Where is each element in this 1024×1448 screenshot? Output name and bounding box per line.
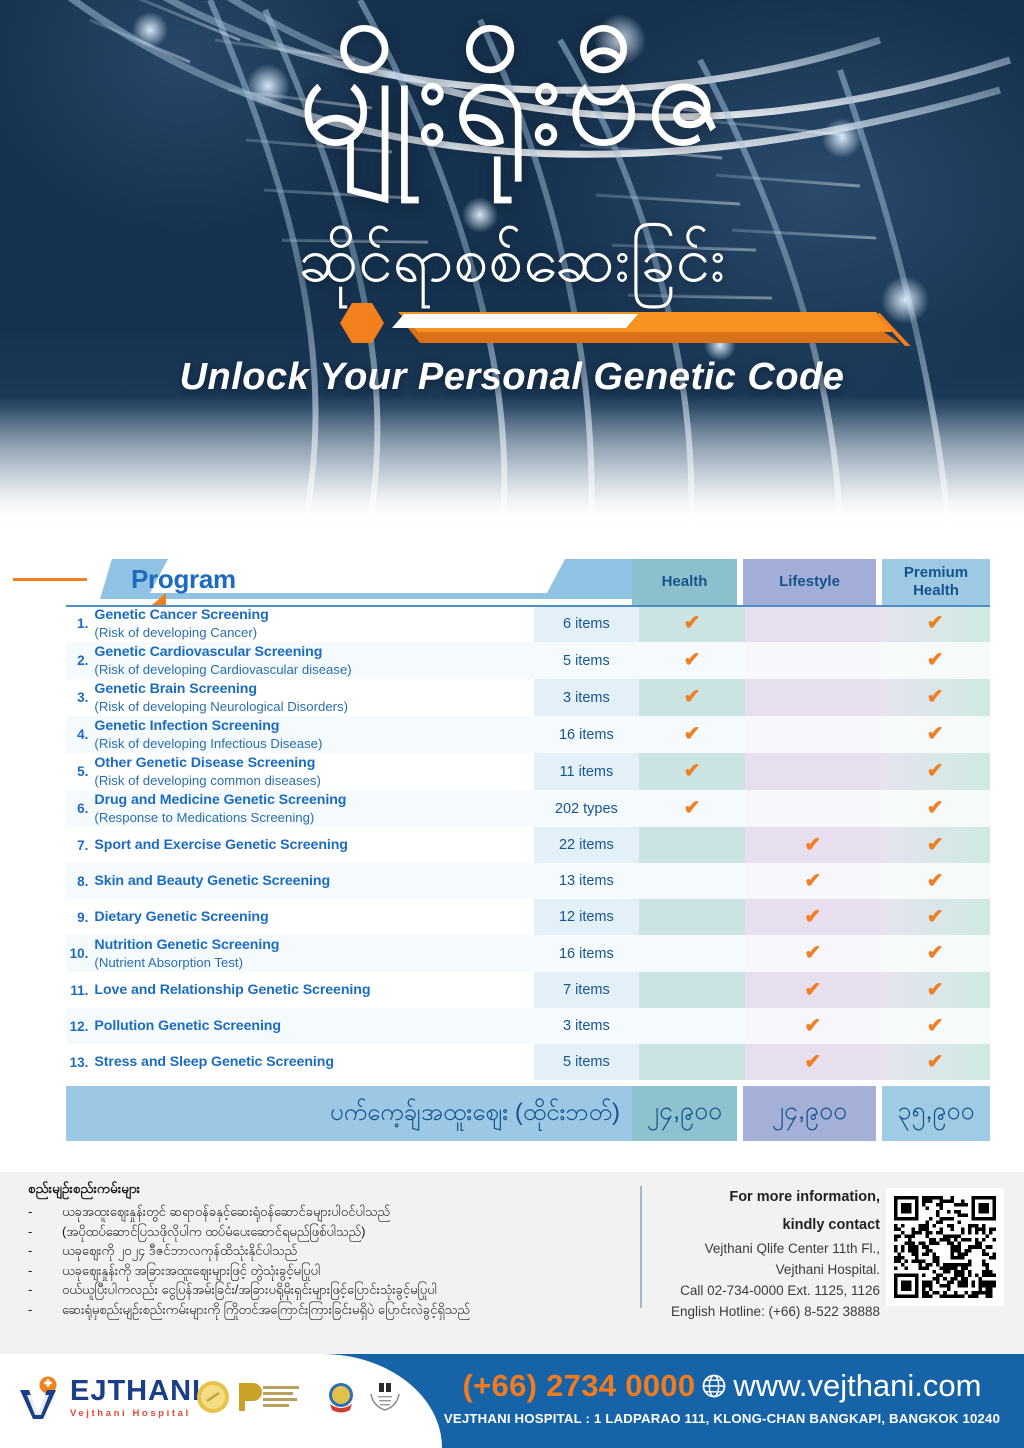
table-row: 8.Skin and Beauty Genetic Screening13 it… xyxy=(66,863,990,899)
cell-premium-health: ✔ xyxy=(880,1008,990,1044)
orange-hexagon-icon xyxy=(340,303,384,343)
row-program-name: Skin and Beauty Genetic Screening xyxy=(94,863,534,899)
terms-list-item: -ယခုအထူးဈေးနှုန်းတွင် ဆရာဝန်ခနှင့်ဆေးရုံ… xyxy=(28,1202,628,1222)
row-program-name: Nutrition Genetic Screening(Nutrient Abs… xyxy=(94,935,534,972)
header-orange-rule xyxy=(13,578,87,581)
check-icon: ✔ xyxy=(684,797,701,819)
table-row: 2.Genetic Cardiovascular Screening(Risk … xyxy=(66,642,990,679)
table-row: 4.Genetic Infection Screening(Risk of de… xyxy=(66,716,990,753)
cell-premium-health: ✔ xyxy=(880,899,990,935)
hospital-accreditation-icon xyxy=(324,1380,358,1414)
program-title: Stress and Sleep Genetic Screening xyxy=(94,1053,534,1071)
cell-lifestyle: ✔ xyxy=(745,899,880,935)
program-subtitle: (Response to Medications Screening) xyxy=(94,809,534,826)
cell-lifestyle xyxy=(745,642,880,679)
vejthani-wordmark: EJTHANI xyxy=(70,1377,201,1406)
column-header-lifestyle[interactable]: Lifestyle xyxy=(743,559,876,605)
page-subtitle-burmese: ဆိုင်ရာစစ်ဆေးခြင်း xyxy=(0,222,1024,300)
terms-and-conditions: စည်းမျဉ်းစည်းကမ်းများ -ယခုအထူးဈေးနှုန်းတ… xyxy=(28,1180,628,1319)
qr-code[interactable] xyxy=(886,1188,1004,1306)
row-number: 1. xyxy=(66,605,94,642)
cell-premium-health: ✔ xyxy=(880,1044,990,1080)
check-icon: ✔ xyxy=(804,906,821,928)
cell-lifestyle xyxy=(745,753,880,790)
cell-health xyxy=(639,1044,746,1080)
footer-address: VEJTHANI HOSPITAL : 1 LADPARAO 111, KLON… xyxy=(432,1411,1012,1426)
hero-banner: မျိုးရိုးဗီဇ ဆိုင်ရာစစ်ဆေးခြင်း Unlock Y… xyxy=(0,0,1024,545)
global-health-award-icon xyxy=(365,1380,405,1414)
check-icon: ✔ xyxy=(927,1015,944,1037)
price-row: ပက်ကေ့ခ်ျအထူးဈေး (ထိုင်းဘတ်) ၂၄,၉၀၀ ၂၄,၉… xyxy=(0,1086,1024,1141)
header-bottom-rule xyxy=(66,605,990,607)
cell-premium-health: ✔ xyxy=(880,790,990,827)
program-title: Genetic Cardiovascular Screening xyxy=(94,643,534,661)
cell-lifestyle: ✔ xyxy=(745,1008,880,1044)
terms-list-item: -ဝယ်ယူပြီးပါကလည်း ငွေပြန်အမ်းခြင်း/အခြား… xyxy=(28,1280,628,1300)
row-program-name: Other Genetic Disease Screening(Risk of … xyxy=(94,753,534,790)
row-number: 11. xyxy=(66,972,94,1008)
check-icon: ✔ xyxy=(927,723,944,745)
row-number: 3. xyxy=(66,679,94,716)
orange-diagonal-line xyxy=(878,314,1012,346)
cell-health xyxy=(639,863,746,899)
program-table-header: Program Health Lifestyle Premium Health xyxy=(0,553,1024,605)
cell-premium-health: ✔ xyxy=(880,605,990,642)
row-program-name: Dietary Genetic Screening xyxy=(94,899,534,935)
vertical-divider xyxy=(640,1186,642,1308)
cell-health xyxy=(639,899,746,935)
program-subtitle: (Nutrient Absorption Test) xyxy=(94,954,534,971)
cell-health: ✔ xyxy=(639,642,746,679)
cell-lifestyle xyxy=(745,605,880,642)
cell-lifestyle: ✔ xyxy=(745,863,880,899)
row-program-name: Pollution Genetic Screening xyxy=(94,1008,534,1044)
program-subtitle: (Risk of developing Neurological Disorde… xyxy=(94,698,534,715)
column-header-health[interactable]: Health xyxy=(632,559,737,605)
cell-health xyxy=(639,827,746,863)
terms-list-text: ဝယ်ယူပြီးပါကလည်း ငွေပြန်အမ်းခြင်း/အခြားပ… xyxy=(62,1280,437,1300)
list-bullet: - xyxy=(28,1241,56,1261)
check-icon: ✔ xyxy=(684,649,701,671)
qr-code-image xyxy=(894,1196,996,1298)
cell-lifestyle: ✔ xyxy=(745,827,880,863)
cell-health: ✔ xyxy=(639,790,746,827)
check-icon: ✔ xyxy=(927,870,944,892)
row-item-count: 16 items xyxy=(534,716,639,753)
check-icon: ✔ xyxy=(684,760,701,782)
cell-premium-health: ✔ xyxy=(880,642,990,679)
check-icon: ✔ xyxy=(927,1051,944,1073)
row-number: 8. xyxy=(66,863,94,899)
price-health: ၂၄,၉၀၀ xyxy=(632,1086,737,1141)
column-header-premium-line2: Health xyxy=(904,582,968,600)
row-number: 4. xyxy=(66,716,94,753)
table-row: 5.Other Genetic Disease Screening(Risk o… xyxy=(66,753,990,790)
row-program-name: Genetic Cancer Screening(Risk of develop… xyxy=(94,605,534,642)
check-icon: ✔ xyxy=(684,686,701,708)
row-program-name: Stress and Sleep Genetic Screening xyxy=(94,1044,534,1080)
terms-list-item: -ယခုဈေးနှုန်းကို အခြားအထူးဈေးများဖြင့် တ… xyxy=(28,1261,628,1281)
row-item-count: 13 items xyxy=(534,863,639,899)
row-item-count: 16 items xyxy=(534,935,639,972)
cell-lifestyle: ✔ xyxy=(745,972,880,1008)
terms-list-item: -ဆေးရုံမှစည်းမျဉ်းစည်းကမ်းများကို ကြိုတင… xyxy=(28,1300,628,1320)
contact-hotline: English Hotline: (+66) 8-522 38888 xyxy=(648,1302,880,1323)
check-icon: ✔ xyxy=(804,942,821,964)
contact-line-1: For more information, xyxy=(648,1184,880,1212)
row-program-name: Drug and Medicine Genetic Screening(Resp… xyxy=(94,790,534,827)
row-item-count: 12 items xyxy=(534,899,639,935)
row-program-name: Genetic Cardiovascular Screening(Risk of… xyxy=(94,642,534,679)
program-title: Love and Relationship Genetic Screening xyxy=(94,981,534,999)
row-item-count: 6 items xyxy=(534,605,639,642)
cell-health xyxy=(639,935,746,972)
footer-website[interactable]: www.vejthani.com xyxy=(733,1368,981,1404)
column-header-premium-health[interactable]: Premium Health xyxy=(882,559,990,605)
footer-phone-number[interactable]: (+66) 2734 0000 xyxy=(463,1368,696,1404)
table-row: 7.Sport and Exercise Genetic Screening22… xyxy=(66,827,990,863)
row-number: 13. xyxy=(66,1044,94,1080)
white-bar-segment xyxy=(392,314,638,328)
table-row: 3.Genetic Brain Screening(Risk of develo… xyxy=(66,679,990,716)
check-icon: ✔ xyxy=(804,979,821,1001)
terms-list-text: ယခုဈေးနှုန်းကို အခြားအထူးဈေးများဖြင့် တွ… xyxy=(62,1261,320,1281)
cell-premium-health: ✔ xyxy=(880,827,990,863)
list-bullet: - xyxy=(28,1261,56,1281)
row-number: 9. xyxy=(66,899,94,935)
program-title: Genetic Brain Screening xyxy=(94,680,534,698)
orange-divider-bar xyxy=(0,300,1024,346)
row-number: 5. xyxy=(66,753,94,790)
check-icon: ✔ xyxy=(804,870,821,892)
program-subtitle: (Risk of developing Cancer) xyxy=(94,624,534,641)
terms-list-text: ဆေးရုံမှစည်းမျဉ်းစည်းကမ်းများကို ကြိုတင်… xyxy=(62,1300,470,1320)
cell-lifestyle xyxy=(745,716,880,753)
row-item-count: 5 items xyxy=(534,642,639,679)
check-icon: ✔ xyxy=(684,612,701,634)
price-row-label: ပက်ကေ့ခ်ျအထူးဈေး (ထိုင်းဘတ်) xyxy=(330,1096,632,1132)
check-icon: ✔ xyxy=(804,834,821,856)
row-item-count: 3 items xyxy=(534,679,639,716)
column-header-premium-line1: Premium xyxy=(904,564,968,582)
cell-lifestyle xyxy=(745,679,880,716)
row-item-count: 7 items xyxy=(534,972,639,1008)
list-bullet: - xyxy=(28,1300,56,1320)
notes-and-contact-section: စည်းမျဉ်းစည်းကမ်းများ -ယခုအထူးဈေးနှုန်းတ… xyxy=(0,1172,1024,1354)
check-icon: ✔ xyxy=(927,686,944,708)
cell-lifestyle: ✔ xyxy=(745,935,880,972)
program-title: Genetic Infection Screening xyxy=(94,717,534,735)
row-item-count: 11 items xyxy=(534,753,639,790)
row-program-name: Genetic Brain Screening(Risk of developi… xyxy=(94,679,534,716)
check-icon: ✔ xyxy=(804,1051,821,1073)
list-bullet: - xyxy=(28,1222,56,1242)
row-item-count: 202 types xyxy=(534,790,639,827)
row-number: 12. xyxy=(66,1008,94,1044)
cell-health: ✔ xyxy=(639,679,746,716)
check-icon: ✔ xyxy=(927,797,944,819)
list-bullet: - xyxy=(28,1202,56,1222)
cell-health: ✔ xyxy=(639,716,746,753)
cell-health xyxy=(639,972,746,1008)
table-row: 11.Love and Relationship Genetic Screeni… xyxy=(66,972,990,1008)
row-item-count: 22 items xyxy=(534,827,639,863)
cell-lifestyle: ✔ xyxy=(745,1044,880,1080)
gold-coin-award-icon xyxy=(196,1380,230,1414)
vejthani-tagline: Vejthani Hospital xyxy=(70,1408,201,1419)
program-subtitle: (Risk of developing Cardiovascular disea… xyxy=(94,661,534,678)
row-number: 10. xyxy=(66,935,94,972)
footer-bar: EJTHANI Vejthani Hospital (+6 xyxy=(0,1354,1024,1448)
check-icon: ✔ xyxy=(927,942,944,964)
terms-list-item: -ယခုဈေးကို ၂၀၂၄ ဒီဇင်ဘာလကုန်ထိသုံးနိုင်ပ… xyxy=(28,1241,628,1261)
vejthani-logo: EJTHANI Vejthani Hospital xyxy=(18,1376,201,1420)
cell-premium-health: ✔ xyxy=(880,972,990,1008)
program-table-section: Program Health Lifestyle Premium Health … xyxy=(0,553,1024,1141)
check-icon: ✔ xyxy=(684,723,701,745)
program-title: Skin and Beauty Genetic Screening xyxy=(94,872,534,890)
terms-list-text: ယခုဈေးကို ၂၀၂၄ ဒီဇင်ဘာလကုန်ထိသုံးနိုင်ပါ… xyxy=(62,1241,297,1261)
check-icon: ✔ xyxy=(927,979,944,1001)
terms-heading: စည်းမျဉ်းစည်းကမ်းများ xyxy=(28,1180,628,1200)
globe-icon xyxy=(701,1373,727,1399)
cell-health: ✔ xyxy=(639,753,746,790)
check-icon: ✔ xyxy=(927,906,944,928)
cell-premium-health: ✔ xyxy=(880,935,990,972)
program-title: Other Genetic Disease Screening xyxy=(94,754,534,772)
check-icon: ✔ xyxy=(804,1015,821,1037)
footer-contact: (+66) 2734 0000 www.vejthani.com VEJTHAN… xyxy=(432,1368,1012,1426)
prime-minister-award-icon xyxy=(237,1381,317,1413)
list-bullet: - xyxy=(28,1280,56,1300)
program-title: Dietary Genetic Screening xyxy=(94,908,534,926)
check-icon: ✔ xyxy=(927,760,944,782)
table-row: 12.Pollution Genetic Screening3 items✔✔ xyxy=(66,1008,990,1044)
cell-premium-health: ✔ xyxy=(880,679,990,716)
terms-list-text: (အပိုထပ်ဆောင်ပြသဖိုလိုပါက ထပ်မံပေးဆောင်ရ… xyxy=(62,1222,365,1242)
hero-tagline: Unlock Your Personal Genetic Code xyxy=(0,356,1024,399)
contact-line-2: kindly contact xyxy=(648,1212,880,1240)
award-badges xyxy=(196,1380,405,1414)
cell-health xyxy=(639,1008,746,1044)
row-number: 2. xyxy=(66,642,94,679)
cell-premium-health: ✔ xyxy=(880,716,990,753)
program-column-header: Program xyxy=(131,564,431,595)
check-icon: ✔ xyxy=(927,649,944,671)
price-premium-health: ၃၅,၉၀၀ xyxy=(882,1086,990,1141)
table-row: 6.Drug and Medicine Genetic Screening(Re… xyxy=(66,790,990,827)
program-title: Genetic Cancer Screening xyxy=(94,606,534,624)
check-icon: ✔ xyxy=(927,612,944,634)
contact-address-2: Vejthani Hospital. xyxy=(648,1260,880,1281)
price-row-label-cell: ပက်ကေ့ခ်ျအထူးဈေး (ထိုင်းဘတ်) xyxy=(66,1086,632,1141)
table-row: 13.Stress and Sleep Genetic Screening5 i… xyxy=(66,1044,990,1080)
row-number: 7. xyxy=(66,827,94,863)
row-item-count: 5 items xyxy=(534,1044,639,1080)
table-row: 1.Genetic Cancer Screening(Risk of devel… xyxy=(66,605,990,642)
vejthani-v-mark-icon xyxy=(18,1376,64,1420)
cell-premium-health: ✔ xyxy=(880,753,990,790)
program-subtitle: (Risk of developing common diseases) xyxy=(94,772,534,789)
cell-health: ✔ xyxy=(639,605,746,642)
program-table: 1.Genetic Cancer Screening(Risk of devel… xyxy=(66,605,990,1080)
table-row: 10.Nutrition Genetic Screening(Nutrient … xyxy=(66,935,990,972)
row-number: 6. xyxy=(66,790,94,827)
terms-list-item: -(အပိုထပ်ဆောင်ပြသဖိုလိုပါက ထပ်မံပေးဆောင်… xyxy=(28,1222,628,1242)
column-header-health-label: Health xyxy=(662,573,708,591)
page-title-burmese: မျိုးရိုးဗီဇ xyxy=(0,12,1024,185)
cell-lifestyle xyxy=(745,790,880,827)
row-program-name: Genetic Infection Screening(Risk of deve… xyxy=(94,716,534,753)
program-title: Pollution Genetic Screening xyxy=(94,1017,534,1035)
table-row: 9.Dietary Genetic Screening12 items✔✔ xyxy=(66,899,990,935)
row-item-count: 3 items xyxy=(534,1008,639,1044)
column-header-lifestyle-label: Lifestyle xyxy=(779,573,840,591)
contact-address-1: Vejthani Qlife Center 11th Fl., xyxy=(648,1239,880,1260)
program-title: Sport and Exercise Genetic Screening xyxy=(94,836,534,854)
row-program-name: Love and Relationship Genetic Screening xyxy=(94,972,534,1008)
cell-premium-health: ✔ xyxy=(880,863,990,899)
program-subtitle: (Risk of developing Infectious Disease) xyxy=(94,735,534,752)
terms-list-text: ယခုအထူးဈေးနှုန်းတွင် ဆရာဝန်ခနှင့်ဆေးရုံဝ… xyxy=(62,1202,390,1222)
program-title: Nutrition Genetic Screening xyxy=(94,936,534,954)
program-title: Drug and Medicine Genetic Screening xyxy=(94,791,534,809)
price-lifestyle: ၂၄,၉၀၀ xyxy=(743,1086,876,1141)
row-program-name: Sport and Exercise Genetic Screening xyxy=(94,827,534,863)
contact-phone: Call 02-734-0000 Ext. 1125, 1126 xyxy=(648,1281,880,1302)
check-icon: ✔ xyxy=(927,834,944,856)
contact-info: For more information, kindly contact Vej… xyxy=(648,1184,880,1323)
